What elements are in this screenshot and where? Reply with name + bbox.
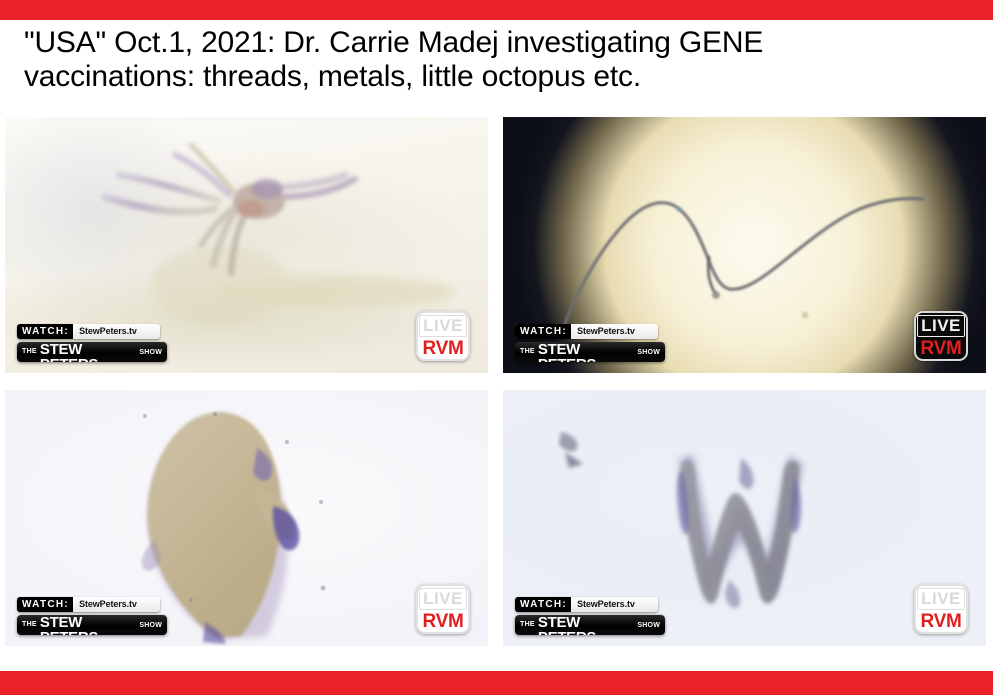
watch-url: StewPeters.tv	[73, 597, 142, 612]
lower-third-overlay: WATCH: StewPeters.tv THE STEW PETERS SHO…	[17, 324, 167, 362]
image-grid: WATCH: StewPeters.tv THE STEW PETERS SHO…	[5, 117, 988, 657]
show-title: STEW PETERS	[40, 615, 137, 635]
live-rvm-logo: LIVE RVM	[416, 584, 470, 634]
live-badge: LIVE	[419, 588, 467, 610]
show-name-bar: THE STEW PETERS SHOW	[515, 615, 665, 635]
rvm-wordmark: RVM	[423, 612, 464, 631]
watch-url: StewPeters.tv	[73, 324, 142, 339]
rvm-wordmark: RVM	[921, 612, 962, 631]
show-name-bar: THE STEW PETERS SHOW	[17, 342, 167, 362]
show-suffix: SHOW	[139, 349, 162, 356]
lower-third-overlay: WATCH: StewPeters.tv THE STEW PETERS SHO…	[17, 597, 167, 635]
show-suffix: SHOW	[139, 622, 162, 629]
watch-label: WATCH:	[515, 324, 571, 339]
watch-row: WATCH: StewPeters.tv	[515, 324, 658, 339]
show-suffix: SHOW	[637, 622, 660, 629]
show-name-bar: THE STEW PETERS SHOW	[17, 615, 167, 635]
show-prefix: THE	[520, 621, 535, 628]
page-title: "USA" Oct.1, 2021: Dr. Carrie Madej inve…	[24, 26, 969, 94]
rvm-wordmark: RVM	[921, 339, 962, 358]
watch-url: StewPeters.tv	[571, 597, 640, 612]
show-title: STEW PETERS	[538, 342, 635, 362]
show-prefix: THE	[520, 348, 535, 355]
show-prefix: THE	[22, 621, 37, 628]
live-badge: LIVE	[917, 315, 965, 337]
top-red-rule	[0, 0, 993, 20]
show-suffix: SHOW	[637, 349, 660, 356]
watch-label: WATCH:	[17, 597, 73, 612]
panel-thread[interactable]: WATCH: StewPeters.tv THE STEW PETERS SHO…	[503, 117, 986, 373]
watch-row: WATCH: StewPeters.tv	[17, 597, 160, 612]
rvm-wordmark: RVM	[423, 339, 464, 358]
show-title: STEW PETERS	[40, 342, 137, 362]
watch-label: WATCH:	[17, 324, 73, 339]
live-rvm-logo: LIVE RVM	[914, 584, 968, 634]
show-title: STEW PETERS	[538, 615, 635, 635]
watch-row: WATCH: StewPeters.tv	[515, 597, 658, 612]
live-badge: LIVE	[419, 315, 467, 337]
watch-label: WATCH:	[515, 597, 571, 612]
lower-third-overlay: WATCH: StewPeters.tv THE STEW PETERS SHO…	[515, 597, 665, 635]
panel-metal-mass[interactable]: WATCH: StewPeters.tv THE STEW PETERS SHO…	[5, 390, 488, 646]
live-rvm-logo: LIVE RVM	[416, 311, 470, 361]
panel-octopus[interactable]: WATCH: StewPeters.tv THE STEW PETERS SHO…	[5, 117, 488, 373]
bottom-red-rule	[0, 671, 993, 695]
show-prefix: THE	[22, 348, 37, 355]
watch-url: StewPeters.tv	[571, 324, 640, 339]
watch-row: WATCH: StewPeters.tv	[17, 324, 160, 339]
lower-third-overlay: WATCH: StewPeters.tv THE STEW PETERS SHO…	[515, 324, 665, 362]
panel-w-clump[interactable]: WATCH: StewPeters.tv THE STEW PETERS SHO…	[503, 390, 986, 646]
live-badge: LIVE	[917, 588, 965, 610]
show-name-bar: THE STEW PETERS SHOW	[515, 342, 665, 362]
live-rvm-logo: LIVE RVM	[914, 311, 968, 361]
